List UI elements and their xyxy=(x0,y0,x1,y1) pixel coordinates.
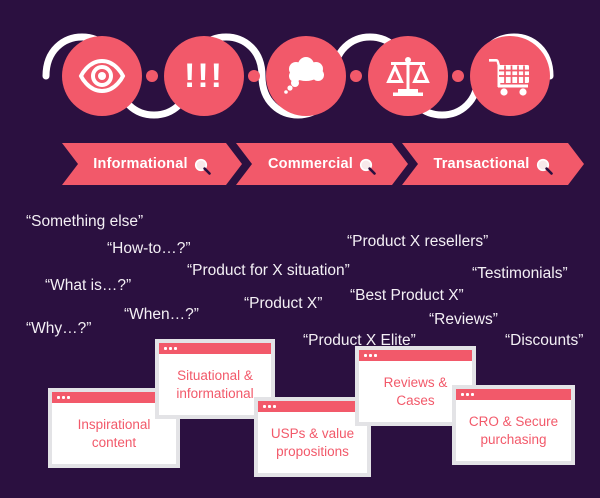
banner-label: Transactional xyxy=(433,156,529,172)
window-dot-icon xyxy=(263,405,266,408)
window-dot-icon xyxy=(164,347,167,350)
journey-stage-purchase[interactable] xyxy=(470,36,550,116)
window-dot-icon xyxy=(174,347,177,350)
window-dot-icon xyxy=(364,354,367,357)
customer-journey-row: !!! xyxy=(0,0,600,138)
banner-transactional[interactable]: Transactional xyxy=(402,143,584,185)
magnifier-icon xyxy=(194,158,211,175)
shopping-cart-icon xyxy=(487,56,533,96)
banner-label: Commercial xyxy=(268,156,353,172)
search-query-phrase: “Reviews” xyxy=(429,311,498,329)
journey-stage-comparison[interactable] xyxy=(368,36,448,116)
window-dot-icon xyxy=(471,393,474,396)
magnifier-icon xyxy=(536,158,553,175)
content-card[interactable]: CRO & Secure purchasing xyxy=(452,385,575,465)
card-title-bar xyxy=(359,350,472,361)
exclamation-marks-icon: !!! xyxy=(184,59,224,93)
journey-stage-consideration[interactable] xyxy=(266,36,346,116)
window-dot-icon xyxy=(62,396,65,399)
banner-informational[interactable]: Informational xyxy=(62,143,242,185)
eye-icon xyxy=(78,59,126,93)
search-query-phrase: “Something else” xyxy=(26,213,143,231)
search-query-phrase: “Best Product X” xyxy=(350,287,464,305)
search-query-phrase: “Product for X situation” xyxy=(187,262,350,280)
window-dot-icon xyxy=(169,347,172,350)
banner-commercial[interactable]: Commercial xyxy=(236,143,408,185)
search-query-phrase: “Testimonials” xyxy=(472,265,568,283)
card-title-bar xyxy=(159,343,271,354)
window-dot-icon xyxy=(273,405,276,408)
magnifier-icon xyxy=(359,158,376,175)
balance-scales-icon xyxy=(386,55,430,97)
thought-cloud-icon xyxy=(283,56,329,96)
search-query-phrase: “What is…?” xyxy=(45,277,131,295)
banner-label: Informational xyxy=(93,156,187,172)
content-card-row: Inspirational contentSituational & infor… xyxy=(0,335,600,498)
card-label: CRO & Secure purchasing xyxy=(456,400,571,461)
intent-banner-row: Informational Commercial Transactional xyxy=(0,143,600,189)
window-dot-icon xyxy=(369,354,372,357)
journey-stage-awareness[interactable] xyxy=(62,36,142,116)
search-query-cloud: “Something else”“How-to…?”“Product X res… xyxy=(0,205,600,350)
search-query-phrase: “How-to…?” xyxy=(107,240,191,258)
card-title-bar xyxy=(456,389,571,400)
window-dot-icon xyxy=(374,354,377,357)
search-query-phrase: “When…?” xyxy=(124,306,199,324)
window-dot-icon xyxy=(268,405,271,408)
window-dot-icon xyxy=(67,396,70,399)
window-dot-icon xyxy=(466,393,469,396)
card-label: USPs & value propositions xyxy=(258,412,367,473)
search-query-phrase: “Product X” xyxy=(244,295,322,313)
window-dot-icon xyxy=(461,393,464,396)
content-card[interactable]: USPs & value propositions xyxy=(254,397,371,477)
journey-stage-interest[interactable]: !!! xyxy=(164,36,244,116)
infographic-canvas: !!! xyxy=(0,0,600,498)
card-title-bar xyxy=(258,401,367,412)
window-dot-icon xyxy=(57,396,60,399)
search-query-phrase: “Product X resellers” xyxy=(347,233,488,251)
